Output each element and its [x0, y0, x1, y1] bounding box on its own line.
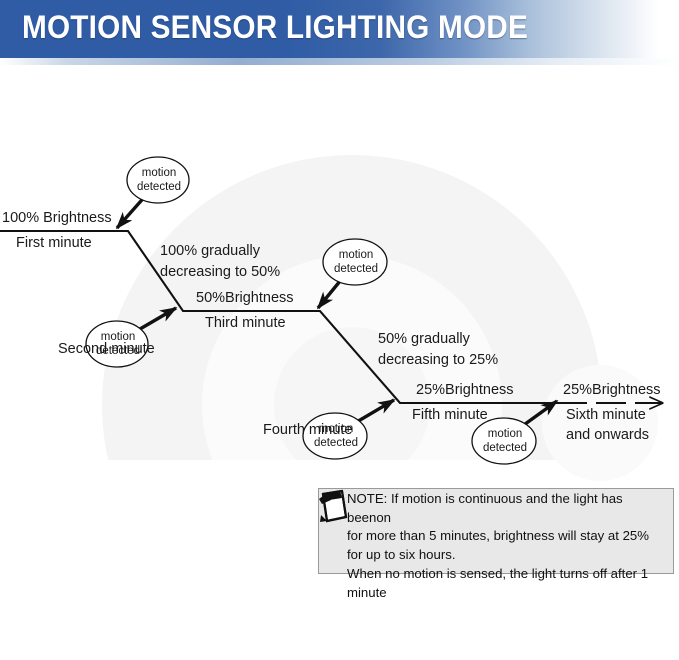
lighting-mode-diagram: motion detected motion detected motion d…: [0, 65, 679, 660]
step-1-brightness-label: 100% Brightness: [2, 210, 112, 227]
callout-1-label: motion detected: [131, 166, 187, 194]
step-4-minute-label-line2: and onwards: [566, 427, 649, 444]
note-text: NOTE: If motion is continuous and the li…: [347, 490, 669, 602]
step-4-brightness-label: 25%Brightness: [563, 382, 661, 399]
transition-1-description-line1: 100% gradually: [160, 243, 260, 260]
step-3-minute-label: Fifth minute: [412, 407, 488, 424]
callout-1-line2: detected: [131, 180, 187, 194]
callout-5-line2: detected: [476, 441, 534, 455]
transition-2-description-line2: decreasing to 25%: [378, 352, 498, 369]
step-2-minute-label: Third minute: [205, 315, 286, 332]
callout-3-line1: motion: [327, 248, 385, 262]
transition-2-minute-label: Fourth minute: [263, 422, 352, 439]
note-line-4: When no motion is sensed, the light turn…: [347, 565, 669, 584]
callout-5-line1: motion: [476, 427, 534, 441]
note-line-3: for up to six hours.: [347, 546, 669, 565]
note-memo-icon: [318, 489, 350, 523]
step-4-minute-label: Sixth minute: [566, 407, 646, 424]
step-2-brightness-label: 50%Brightness: [196, 290, 294, 307]
step-1-minute-label: First minute: [16, 235, 92, 252]
transition-1-description-line2: decreasing to 50%: [160, 264, 280, 281]
callout-3-line2: detected: [327, 262, 385, 276]
callout-1-line1: motion: [131, 166, 187, 180]
step-3-brightness-label: 25%Brightness: [416, 382, 514, 399]
note-line-5: minute: [347, 584, 669, 603]
callout-3-label: motion detected: [327, 248, 385, 276]
note-line-1: NOTE: If motion is continuous and the li…: [347, 490, 669, 527]
note-line-2: for more than 5 minutes, brightness will…: [347, 527, 669, 546]
transition-1-minute-label: Second minute: [58, 341, 155, 358]
callout-5-label: motion detected: [476, 427, 534, 455]
page-title: MOTION SENSOR LIGHTING MODE: [22, 9, 528, 46]
header-underline-strip: [0, 58, 679, 65]
transition-2-description-line1: 50% gradually: [378, 331, 470, 348]
